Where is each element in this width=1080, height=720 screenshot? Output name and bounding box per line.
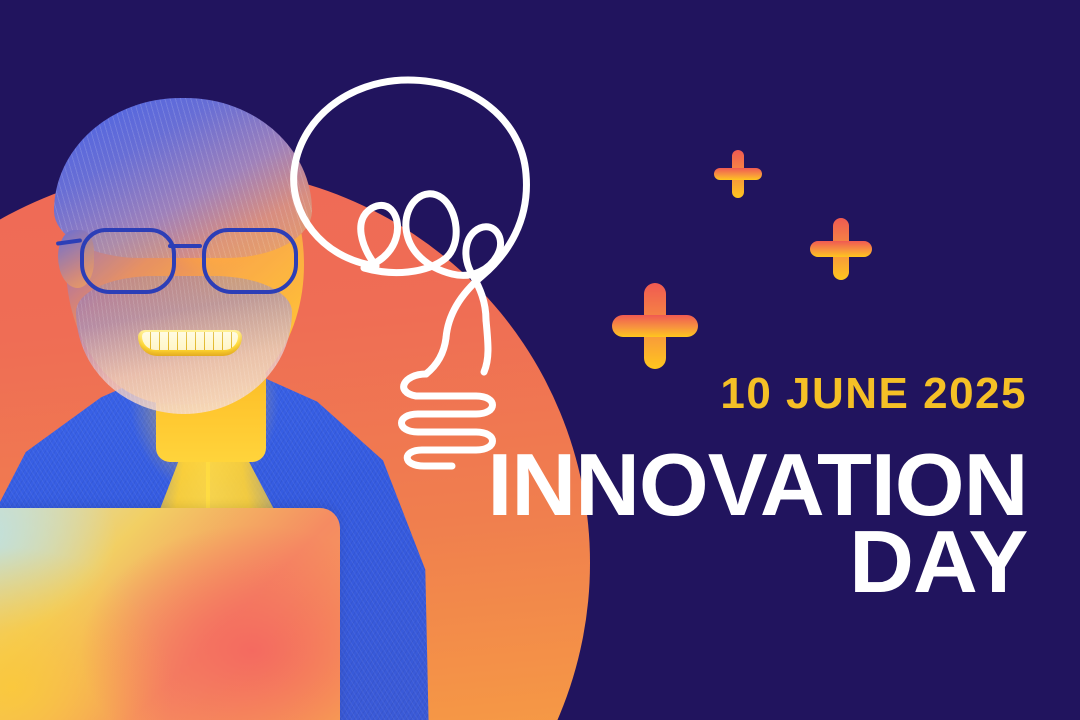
event-date: 10 JUNE 2025 [720,372,1027,416]
bulb-screw-base-coil [402,374,493,466]
portrait-teeth [142,332,238,350]
bulb-neck-right [484,320,488,372]
eyeglass-bridge [168,244,202,248]
plus-mark-large [612,283,698,369]
event-headline: INNOVATION DAY [487,446,1027,601]
lightbulb-line-art [276,62,576,482]
plus-mark-medium [810,218,872,280]
bulb-neck-left [426,338,446,374]
portrait-eyeglasses [74,228,306,290]
laptop-lid-gradient [0,508,340,720]
portrait-smile [138,330,242,356]
plus-mark-small [714,150,762,198]
poster-canvas: 10 JUNE 2025 INNOVATION DAY [0,0,1080,720]
headline-line-day: DAY [487,523,1027,600]
bulb-filament-loops [361,194,501,320]
eyeglass-lens-left [80,228,176,294]
